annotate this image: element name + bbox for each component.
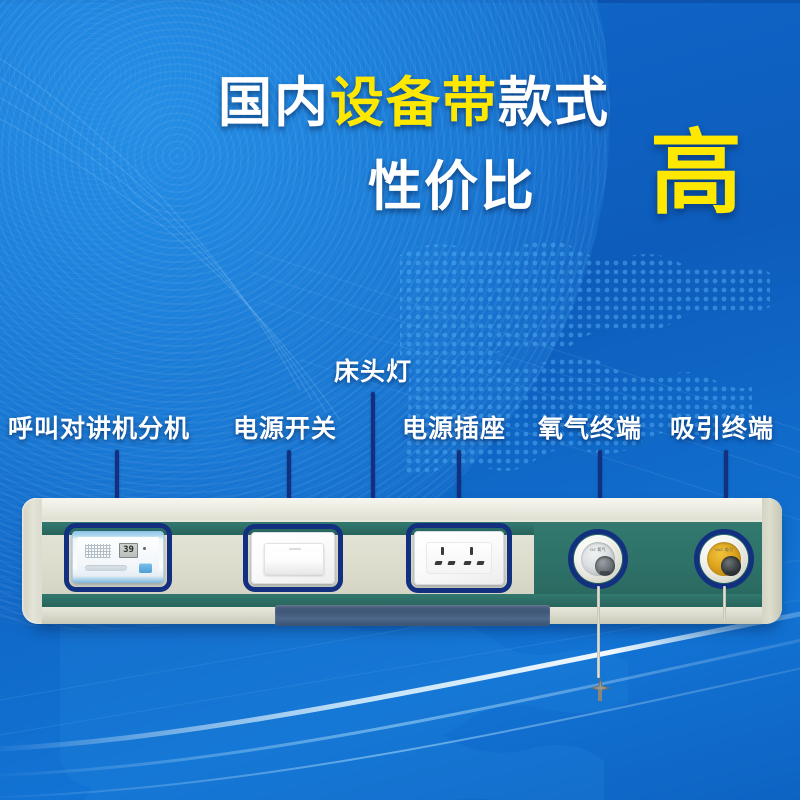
highlight-ring-suction: [694, 529, 754, 589]
callout-label-socket: 电源插座: [402, 415, 506, 443]
highlight-ring-oxygen: [568, 529, 628, 589]
callout-label-switch: 电源开关: [233, 415, 337, 443]
product-poster: 国内设备带款式 性价比 高 呼叫对讲机分机 电源开关 床头灯 电源插座 氧气终端…: [0, 0, 800, 800]
highlight-box-socket: [406, 523, 512, 593]
panel-end-cap-left: [22, 498, 42, 624]
oxygen-hose-cord: [597, 586, 600, 678]
panel-top-cap: [22, 498, 782, 520]
callout-label-bedlamp: 床头灯: [334, 358, 412, 386]
panel-end-cap-right: [762, 498, 782, 624]
hose-connector-plug: [589, 676, 607, 702]
panel-rail-reflection: [275, 605, 550, 626]
highlight-box-intercom: [64, 523, 172, 592]
callout-label-intercom: 呼叫对讲机分机: [8, 415, 190, 443]
suction-hose-cord: [723, 586, 726, 620]
callout-label-oxygen: 氧气终端: [538, 415, 642, 443]
callout-layer: 呼叫对讲机分机 电源开关 床头灯 电源插座 氧气终端 吸引终端: [0, 0, 800, 800]
highlight-box-switch: [243, 524, 343, 592]
callout-label-suction: 吸引终端: [670, 415, 774, 443]
